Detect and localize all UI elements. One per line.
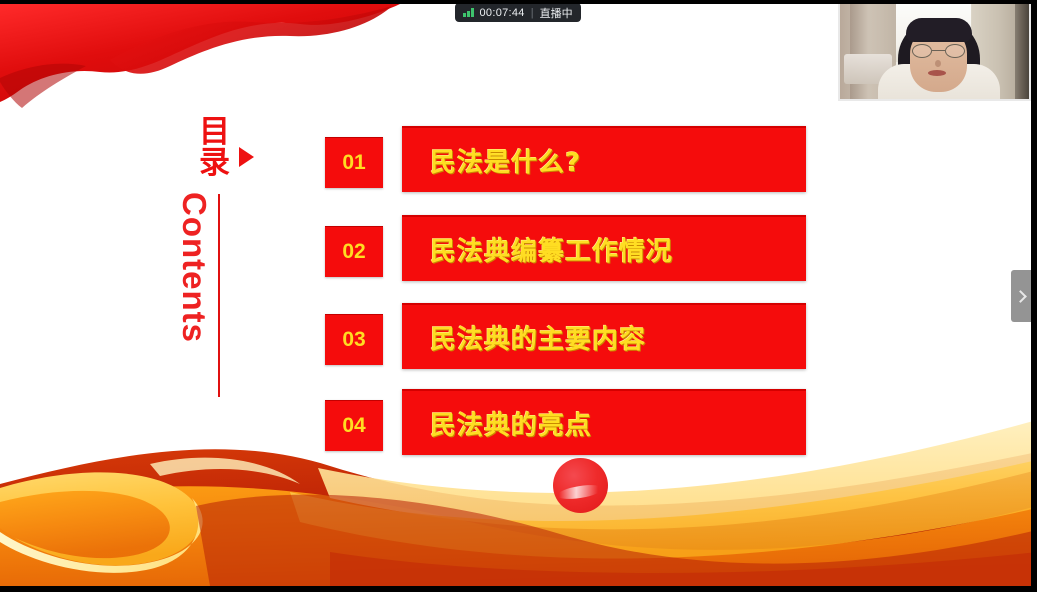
toc-item-number: 03 bbox=[325, 314, 383, 365]
toc-item-bar[interactable]: 民法是什么? bbox=[402, 126, 806, 192]
pill-separator: | bbox=[531, 7, 534, 19]
bottom-letterbox-bar bbox=[0, 586, 1037, 592]
toc-item-03[interactable]: 03 民法典的主要内容 bbox=[325, 314, 806, 369]
presenter-mouth bbox=[928, 70, 946, 76]
red-sun-decoration bbox=[553, 458, 608, 513]
presenter-video-thumbnail[interactable] bbox=[838, 0, 1031, 101]
presenter-fringe bbox=[906, 18, 972, 42]
toc-item-01[interactable]: 01 民法是什么? bbox=[325, 137, 806, 192]
live-status-pill: 00:07:44 | 直播中 bbox=[455, 3, 581, 22]
toc-item-bar[interactable]: 民法典编纂工作情况 bbox=[402, 215, 806, 281]
toc-item-04[interactable]: 04 民法典的亮点 bbox=[325, 400, 806, 455]
chevron-right-icon bbox=[1014, 290, 1027, 303]
triangle-right-icon bbox=[239, 147, 254, 167]
toc-item-bar[interactable]: 民法典的主要内容 bbox=[402, 303, 806, 369]
toc-item-title: 民法典的亮点 bbox=[402, 405, 592, 442]
toc-item-title: 民法典的主要内容 bbox=[402, 319, 646, 356]
elapsed-time: 00:07:44 bbox=[480, 7, 525, 19]
toc-item-title: 民法典编纂工作情况 bbox=[402, 231, 673, 268]
toc-divider-line bbox=[218, 194, 220, 397]
toc-item-number: 02 bbox=[325, 226, 383, 277]
toc-item-title: 民法是什么? bbox=[402, 142, 581, 179]
toc-heading-char-2: 录 bbox=[198, 148, 232, 179]
top-letterbox-bar bbox=[0, 0, 1037, 4]
signal-bars-icon bbox=[463, 8, 474, 17]
panel-expand-handle[interactable] bbox=[1011, 270, 1031, 322]
red-flag-decoration bbox=[0, 4, 420, 124]
toc-heading-english: Contents bbox=[175, 192, 213, 392]
toc-heading-char-1: 目 bbox=[198, 117, 232, 148]
live-label: 直播中 bbox=[540, 5, 573, 21]
toc-item-number: 01 bbox=[325, 137, 383, 188]
toc-item-bar[interactable]: 民法典的亮点 bbox=[402, 389, 806, 455]
glasses-icon bbox=[911, 44, 966, 58]
toc-heading: 目 录 bbox=[198, 117, 254, 179]
live-stream-viewport: 目 录 Contents 01 民法是什么? 02 民法典编纂工作情况 03 民… bbox=[0, 0, 1037, 592]
toc-item-number: 04 bbox=[325, 400, 383, 451]
presenter-nose bbox=[935, 60, 941, 67]
right-rail bbox=[1031, 0, 1037, 592]
toc-item-02[interactable]: 02 民法典编纂工作情况 bbox=[325, 226, 806, 281]
